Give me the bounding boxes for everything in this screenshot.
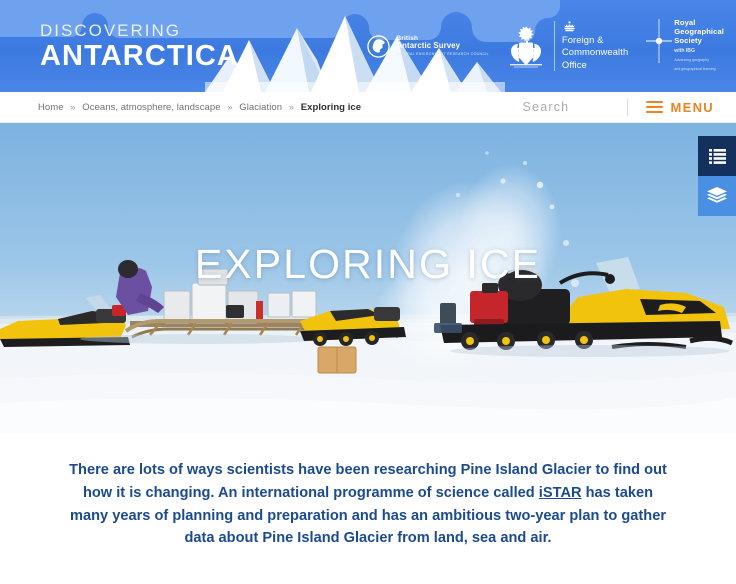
layers-button[interactable]	[698, 176, 736, 216]
list-icon	[709, 149, 726, 164]
rgs-tagline-2: and geographical learning	[674, 67, 724, 72]
logo-british-antarctic-survey[interactable]: British Antarctic Survey NATURAL ENVIRON…	[367, 35, 504, 58]
header-actions: MENU	[523, 99, 714, 116]
hero-side-tools	[698, 136, 736, 216]
royal-coat-of-arms-icon	[505, 23, 547, 69]
crown-icon	[562, 21, 577, 32]
logo-royal-geographical-society[interactable]: Royal Geographical Society with IBG Adva…	[646, 19, 732, 72]
intro-paragraph: There are lots of ways scientists have b…	[62, 459, 674, 550]
bas-line-3: NATURAL ENVIRONMENT RESEARCH COUNCIL	[396, 53, 488, 57]
logo-foreign-commonwealth-office[interactable]: Foreign & Commonwealth Office	[505, 21, 646, 70]
hamburger-icon	[646, 101, 663, 114]
rgs-line-4: with IBG	[674, 48, 724, 54]
intro-section: There are lots of ways scientists have b…	[0, 433, 736, 550]
fco-line-2: Commonwealth	[562, 46, 628, 58]
header-divider	[627, 99, 628, 116]
site-header: DISCOVERING ANTARCTICA British Antarctic…	[0, 0, 736, 92]
hero-banner: EXPLORING ICE	[0, 123, 736, 433]
breadcrumb-item-oceans[interactable]: Oceans, atmosphere, landscape	[82, 102, 220, 113]
istar-link[interactable]: iSTAR	[539, 485, 582, 501]
fco-line-1: Foreign &	[562, 34, 628, 46]
fco-divider	[554, 21, 555, 70]
breadcrumb-item-glaciation[interactable]: Glaciation	[239, 102, 282, 113]
breadcrumb-separator: »	[70, 102, 75, 113]
layers-icon	[707, 187, 727, 205]
search-input[interactable]	[523, 100, 619, 114]
fco-line-3: Office	[562, 59, 628, 71]
rgs-tagline-1: Advancing geography	[674, 58, 724, 63]
rgs-mark	[646, 19, 672, 63]
brand-line-2: ANTARCTICA	[40, 42, 239, 71]
contents-button[interactable]	[698, 136, 736, 176]
breadcrumb: Home » Oceans, atmosphere, landscape » G…	[38, 102, 361, 113]
page-root: DISCOVERING ANTARCTICA British Antarctic…	[0, 0, 736, 584]
breadcrumb-item-home[interactable]: Home	[38, 102, 64, 113]
breadcrumb-separator: »	[227, 102, 232, 113]
brand-line-1: DISCOVERING	[40, 22, 239, 39]
page-title: EXPLORING ICE	[0, 241, 736, 288]
menu-button[interactable]: MENU	[646, 100, 714, 115]
breadcrumb-item-current: Exploring ice	[301, 102, 361, 113]
site-logo[interactable]: DISCOVERING ANTARCTICA	[40, 22, 239, 71]
breadcrumb-separator: »	[289, 102, 294, 113]
partner-logos: British Antarctic Survey NATURAL ENVIRON…	[367, 0, 732, 92]
bas-line-2: Antarctic Survey	[396, 42, 488, 51]
antarctica-circle-icon	[367, 35, 390, 58]
rgs-line-3: Society	[674, 37, 724, 46]
breadcrumb-bar: Home » Oceans, atmosphere, landscape » G…	[0, 92, 736, 123]
menu-label: MENU	[671, 100, 714, 115]
